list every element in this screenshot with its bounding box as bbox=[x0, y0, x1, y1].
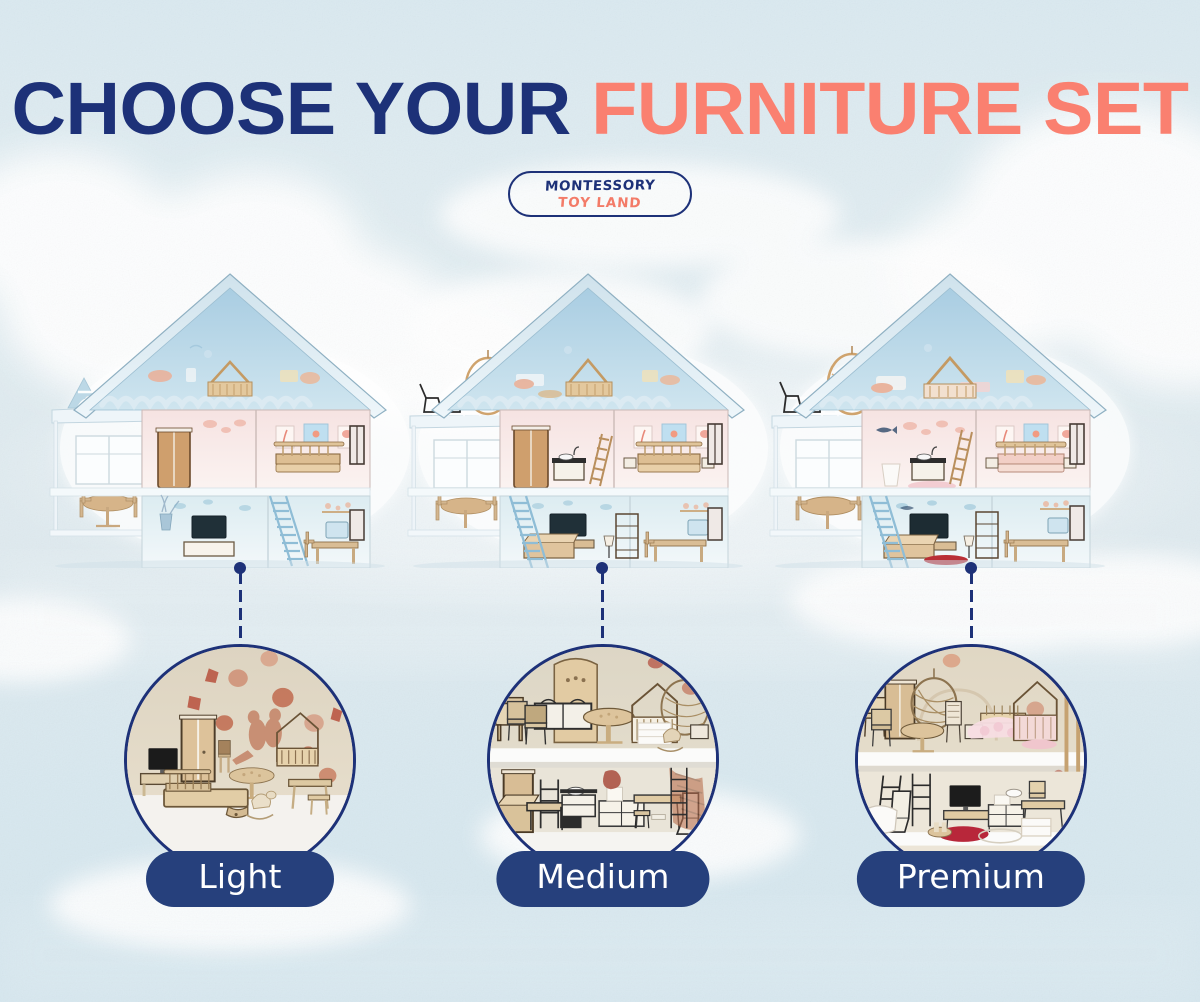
connector-light bbox=[232, 562, 248, 648]
dollhouse-medium-image bbox=[398, 258, 778, 568]
connector-premium bbox=[963, 562, 979, 648]
option-label-medium[interactable]: Medium bbox=[496, 851, 709, 907]
title-part-accent: FURNITURE SET bbox=[591, 67, 1188, 150]
dollhouse-light[interactable] bbox=[40, 258, 420, 568]
connector-line-light bbox=[239, 572, 242, 648]
connector-medium bbox=[594, 562, 610, 648]
title-part-primary: CHOOSE YOUR bbox=[12, 67, 571, 150]
brand-name-line1: MONTESSORY bbox=[544, 177, 655, 194]
option-card-premium[interactable]: Premium bbox=[855, 644, 1087, 876]
option-card-light[interactable]: Light bbox=[124, 644, 356, 876]
option-label-light[interactable]: Light bbox=[146, 851, 334, 907]
connector-line-medium bbox=[601, 572, 604, 648]
dollhouse-row bbox=[0, 258, 1200, 568]
furniture-closeup-light-image bbox=[127, 647, 353, 873]
option-photo-medium[interactable] bbox=[487, 644, 719, 876]
connector-line-premium bbox=[970, 572, 973, 648]
brand-name-line2: TOY LAND bbox=[558, 194, 643, 211]
furniture-closeup-medium-image bbox=[490, 647, 716, 873]
dollhouse-light-image bbox=[40, 258, 420, 568]
furniture-closeup-premium-image bbox=[858, 647, 1084, 873]
poster-canvas: CHOOSE YOUR FURNITURE SET MONTESSORY TOY… bbox=[0, 0, 1200, 1002]
dollhouse-premium-image bbox=[760, 258, 1140, 568]
dollhouse-medium[interactable] bbox=[398, 258, 778, 568]
brand-logo-badge: MONTESSORY TOY LAND bbox=[508, 171, 692, 217]
option-photo-premium[interactable] bbox=[855, 644, 1087, 876]
option-card-medium[interactable]: Medium bbox=[487, 644, 719, 876]
dollhouse-premium[interactable] bbox=[760, 258, 1140, 568]
page-title: CHOOSE YOUR FURNITURE SET bbox=[0, 72, 1200, 146]
option-photo-light[interactable] bbox=[124, 644, 356, 876]
option-label-premium[interactable]: Premium bbox=[857, 851, 1085, 907]
